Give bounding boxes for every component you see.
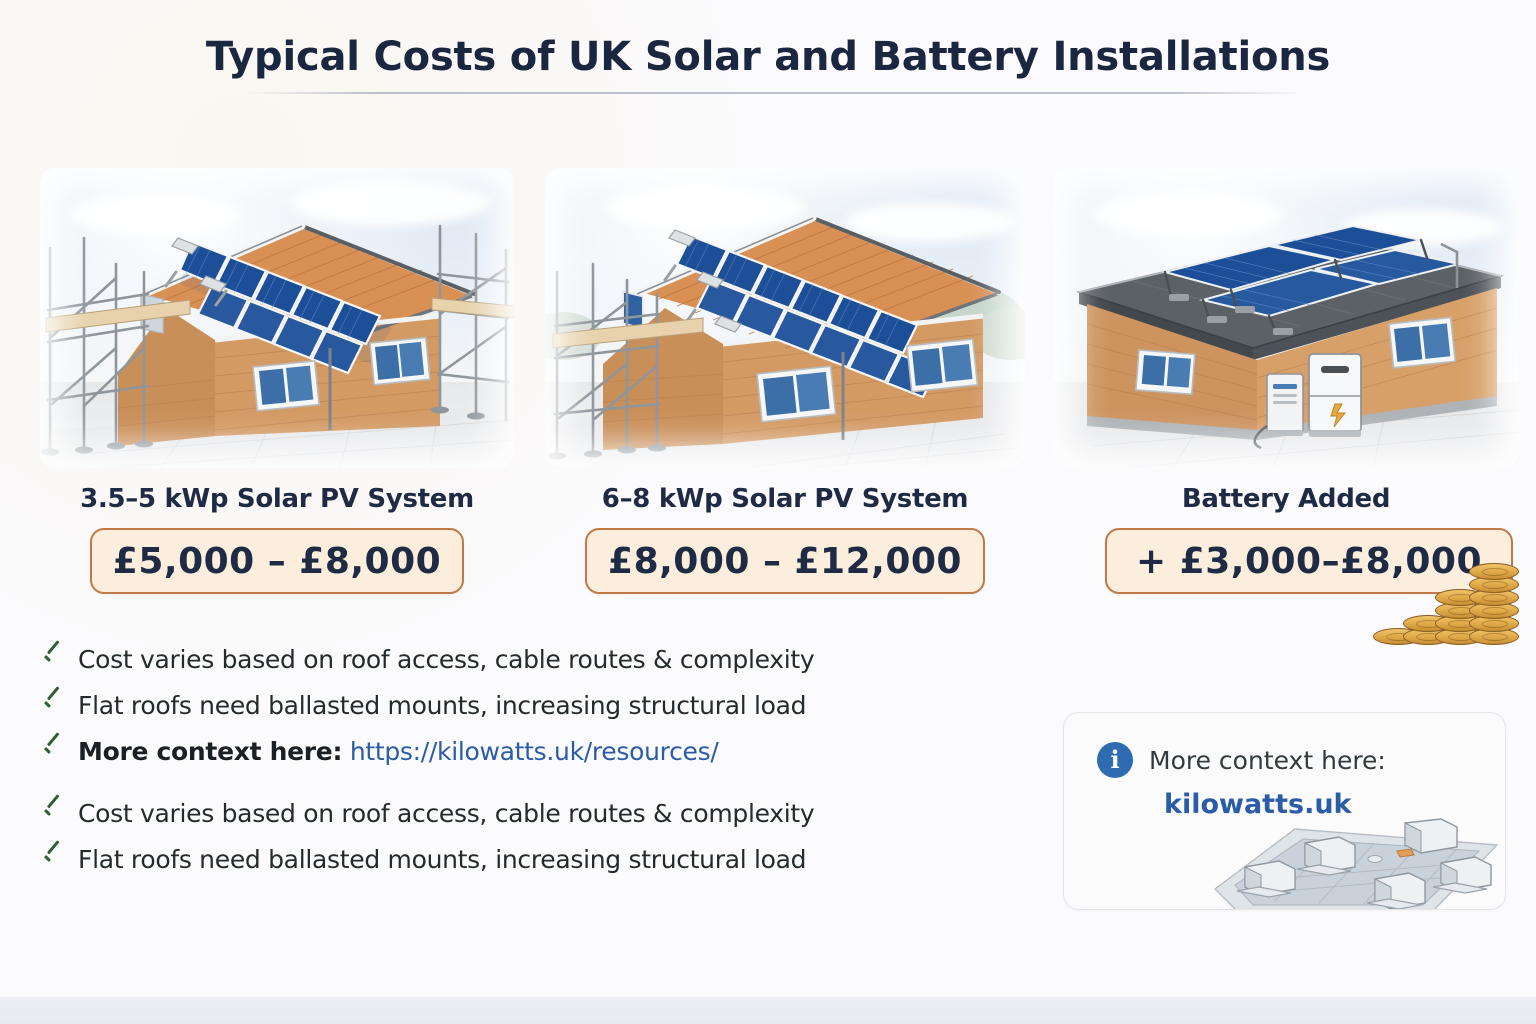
rooftop-equipment-illustration xyxy=(1179,793,1506,910)
info-card-heading: More context here: xyxy=(1149,746,1386,775)
illustration-pitched-roof-house-small xyxy=(40,168,514,468)
page-title: Typical Costs of UK Solar and Battery In… xyxy=(0,34,1536,80)
check-icon xyxy=(42,803,64,825)
info-card[interactable]: i More context here: kilowatts.uk xyxy=(1063,712,1506,910)
info-card-header: i More context here: xyxy=(1097,742,1386,778)
bullet-text: More context here: https://kilowatts.uk/… xyxy=(78,737,718,766)
title-divider xyxy=(246,92,1301,94)
building-drawing xyxy=(1053,168,1519,468)
list-item: Flat roofs need ballasted mounts, increa… xyxy=(42,691,1002,737)
info-icon: i xyxy=(1097,742,1133,778)
resources-link[interactable]: https://kilowatts.uk/resources/ xyxy=(350,737,719,766)
price-wrap: + £3,000–£8,000 xyxy=(1053,528,1519,594)
cost-card-2: 6–8 kWp Solar PV System £8,000 – £12,000 xyxy=(545,168,1025,594)
bullet-lead: More context here: xyxy=(78,737,342,766)
house-drawing xyxy=(545,168,1025,468)
bullet-list: Cost varies based on roof access, cable … xyxy=(42,645,1002,891)
list-item: Cost varies based on roof access, cable … xyxy=(42,645,1002,691)
bullet-text: Cost varies based on roof access, cable … xyxy=(78,799,814,828)
card-label: 3.5–5 kWp Solar PV System xyxy=(40,484,514,514)
price-wrap: £8,000 – £12,000 xyxy=(545,528,1025,594)
list-item-link[interactable]: More context here: https://kilowatts.uk/… xyxy=(42,737,1002,783)
illustration-pitched-roof-house-large xyxy=(545,168,1025,468)
check-icon xyxy=(42,849,64,871)
check-icon xyxy=(42,741,64,763)
check-icon xyxy=(42,695,64,717)
check-icon xyxy=(42,649,64,671)
page-bottom-band xyxy=(0,997,1536,1024)
cost-card-1: 3.5–5 kWp Solar PV System £5,000 – £8,00… xyxy=(40,168,514,594)
list-item: Cost varies based on roof access, cable … xyxy=(42,799,1002,845)
card-label: 6–8 kWp Solar PV System xyxy=(545,484,1025,514)
list-item: Flat roofs need ballasted mounts, increa… xyxy=(42,845,1002,891)
price-wrap: £5,000 – £8,000 xyxy=(40,528,514,594)
bullet-text: Cost varies based on roof access, cable … xyxy=(78,645,814,674)
bullet-text: Flat roofs need ballasted mounts, increa… xyxy=(78,845,806,874)
card-label: Battery Added xyxy=(1053,484,1519,514)
infographic-page: Typical Costs of UK Solar and Battery In… xyxy=(0,0,1536,1024)
illustration-flat-roof-battery xyxy=(1053,168,1519,468)
content-sheet: Typical Costs of UK Solar and Battery In… xyxy=(0,0,1536,997)
house-drawing xyxy=(40,168,514,468)
price-badge: + £3,000–£8,000 xyxy=(1105,528,1513,594)
price-badge: £5,000 – £8,000 xyxy=(90,528,464,594)
bullet-text: Flat roofs need ballasted mounts, increa… xyxy=(78,691,806,720)
price-badge: £8,000 – £12,000 xyxy=(585,528,985,594)
cost-card-3: Battery Added + £3,000–£8,000 xyxy=(1053,168,1519,594)
